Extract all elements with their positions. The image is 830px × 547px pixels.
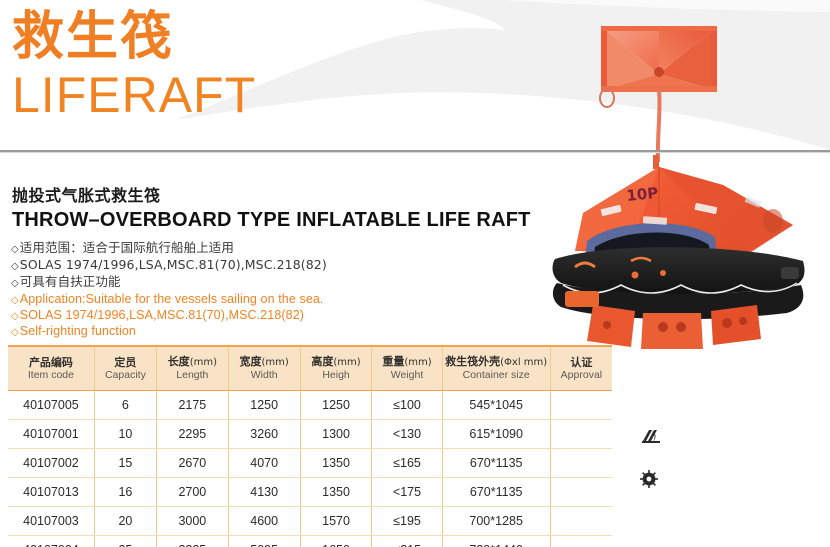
table-header-en: Weight: [372, 369, 441, 381]
cell-capacity: 15: [94, 449, 156, 478]
page-title-en: LIFERAFT: [12, 68, 256, 122]
cell-height: 1350: [300, 478, 372, 507]
sea-anchor-drogue-photo: [595, 22, 725, 162]
product-name-cn: 抛投式气胀式救生筏: [12, 186, 531, 206]
table-header-unit: (Φxl mm): [500, 357, 547, 368]
table-header-cn: 产品编码: [8, 356, 94, 369]
table-row: 4010700110229532601300<130615*1090: [8, 420, 612, 449]
cell-capacity: 10: [94, 420, 156, 449]
table-header-unit: (mm): [262, 357, 289, 368]
cell-capacity: 25: [94, 536, 156, 547]
table-header-en: Item code: [8, 369, 94, 381]
cell-height: 1300: [300, 420, 372, 449]
diamond-bullet-icon: ◇: [11, 311, 19, 322]
cell-approval: [550, 391, 612, 420]
table-header-unit: (mm): [404, 357, 431, 368]
diamond-bullet-icon: ◇: [11, 278, 19, 289]
spec-line-text: 适用范围：适合于国际航行船舶上适用: [20, 240, 234, 255]
med-wheelmark-icon: [640, 470, 658, 493]
cell-weight: <175: [372, 478, 442, 507]
cell-capacity: 16: [94, 478, 156, 507]
table-row: 4010700320300046001570≤195700*1285: [8, 507, 612, 536]
table-header-height: 高度(mm)Heigh: [300, 346, 372, 391]
cell-capacity: 20: [94, 507, 156, 536]
cell-code: 40107002: [8, 449, 94, 478]
cell-width: 4130: [228, 478, 300, 507]
cell-approval: [550, 536, 612, 547]
spec-line-text: SOLAS 1974/1996,LSA,MSC.81(70),MSC.218(8…: [20, 257, 327, 272]
cell-approval: [550, 478, 612, 507]
table-row: 401070056217512501250≤100545*1045: [8, 391, 612, 420]
cell-height: 1350: [300, 449, 372, 478]
ccs-class-mark-icon: [640, 428, 662, 451]
spec-line-text: SOLAS 1974/1996,LSA,MSC.81(70),MSC.218(8…: [20, 308, 304, 322]
spec-line-0: ◇适用范围：适合于国际航行船舶上适用: [11, 240, 327, 257]
cell-container: 615*1090: [442, 420, 550, 449]
cell-weight: <215: [372, 536, 442, 547]
cell-length: 2295: [156, 420, 228, 449]
page-title-cn: 救生筏: [12, 8, 256, 66]
table-header-width: 宽度(mm)Width: [228, 346, 300, 391]
cell-approval: [550, 420, 612, 449]
cell-length: 2670: [156, 449, 228, 478]
cell-height: 1650: [300, 536, 372, 547]
specification-list: ◇适用范围：适合于国际航行船舶上适用◇SOLAS 1974/1996,LSA,M…: [11, 240, 327, 340]
cell-weight: ≤165: [372, 449, 442, 478]
table-header-en: Container size: [443, 369, 550, 381]
table-header-approval: 认证Approval: [550, 346, 612, 391]
diamond-bullet-icon: ◇: [11, 261, 19, 272]
cell-length: 3325: [156, 536, 228, 547]
table-header-length: 长度(mm)Length: [156, 346, 228, 391]
cell-container: 730*1440: [442, 536, 550, 547]
specification-table: 产品编码Item code定员Capacity长度(mm)Length宽度(mm…: [8, 345, 612, 547]
cell-approval: [550, 449, 612, 478]
cell-width: 5095: [228, 536, 300, 547]
diamond-bullet-icon: ◇: [11, 295, 19, 306]
spec-line-text: 可具有自扶正功能: [20, 274, 121, 289]
cell-approval: [550, 507, 612, 536]
table-header-en: Width: [229, 369, 300, 381]
page-title: 救生筏 LIFERAFT: [12, 8, 256, 122]
cell-height: 1570: [300, 507, 372, 536]
cell-length: 3000: [156, 507, 228, 536]
cell-code: 40107003: [8, 507, 94, 536]
cell-length: 2700: [156, 478, 228, 507]
diamond-bullet-icon: ◇: [11, 244, 19, 255]
cell-code: 40107001: [8, 420, 94, 449]
cell-weight: <130: [372, 420, 442, 449]
cell-width: 1250: [228, 391, 300, 420]
product-name: 抛投式气胀式救生筏 THROW–OVERBOARD TYPE INFLATABL…: [12, 186, 531, 232]
table-header-en: Approval: [551, 369, 612, 381]
spec-line-5: ◇Self-righting function: [11, 324, 327, 340]
table-header-cn: 认证: [551, 356, 612, 369]
table-header-row: 产品编码Item code定员Capacity长度(mm)Length宽度(mm…: [8, 346, 612, 391]
cell-container: 670*1135: [442, 449, 550, 478]
spec-line-1: ◇SOLAS 1974/1996,LSA,MSC.81(70),MSC.218(…: [11, 257, 327, 274]
diamond-bullet-icon: ◇: [11, 327, 19, 338]
cell-code: 40107004: [8, 536, 94, 547]
cell-weight: ≤195: [372, 507, 442, 536]
spec-line-4: ◇SOLAS 1974/1996,LSA,MSC.81(70),MSC.218(…: [11, 308, 327, 324]
table-body: 401070056217512501250≤100545*10454010700…: [8, 391, 612, 547]
table-row: 4010700215267040701350≤165670*1135: [8, 449, 612, 478]
table-header-unit: (mm): [333, 357, 360, 368]
table-row: 4010701316270041301350<175670*1135: [8, 478, 612, 507]
inflatable-liferaft-photo: 10P: [535, 155, 830, 355]
cell-code: 40107013: [8, 478, 94, 507]
cell-container: 670*1135: [442, 478, 550, 507]
table-header-unit: (mm): [190, 357, 217, 368]
spec-line-2: ◇可具有自扶正功能: [11, 274, 327, 291]
table-row: 4010700425332550951650<215730*1440: [8, 536, 612, 547]
cell-width: 4600: [228, 507, 300, 536]
table-header-en: Capacity: [95, 369, 156, 381]
table-header-en: Heigh: [301, 369, 372, 381]
approval-marks: [612, 345, 702, 540]
cell-weight: ≤100: [372, 391, 442, 420]
cell-container: 545*1045: [442, 391, 550, 420]
table-header-cn: 长度(mm): [157, 355, 228, 369]
table-header-cn: 定员: [95, 356, 156, 369]
product-datasheet-page: 救生筏 LIFERAFT: [0, 0, 830, 547]
cell-height: 1250: [300, 391, 372, 420]
table-header-container: 救生筏外壳(Φxl mm)Container size: [442, 346, 550, 391]
table-header-cn: 高度(mm): [301, 355, 372, 369]
spec-line-text: Self-righting function: [20, 324, 136, 338]
spec-line-text: Application:Suitable for the vessels sai…: [20, 292, 324, 306]
table-header-weight: 重量(mm)Weight: [372, 346, 442, 391]
cell-width: 3260: [228, 420, 300, 449]
table-header-capacity: 定员Capacity: [94, 346, 156, 391]
cell-capacity: 6: [94, 391, 156, 420]
cell-width: 4070: [228, 449, 300, 478]
product-name-en: THROW–OVERBOARD TYPE INFLATABLE LIFE RAF…: [12, 208, 531, 232]
cell-container: 700*1285: [442, 507, 550, 536]
table-header-cn: 救生筏外壳(Φxl mm): [443, 355, 550, 369]
table-header-cn: 宽度(mm): [229, 355, 300, 369]
table-header-code: 产品编码Item code: [8, 346, 94, 391]
cell-length: 2175: [156, 391, 228, 420]
spec-line-3: ◇Application:Suitable for the vessels sa…: [11, 292, 327, 308]
table-header-en: Length: [157, 369, 228, 381]
svg-text:10P: 10P: [626, 184, 660, 205]
header-divider-shadow: [0, 152, 830, 153]
table-header-cn: 重量(mm): [372, 355, 441, 369]
cell-code: 40107005: [8, 391, 94, 420]
